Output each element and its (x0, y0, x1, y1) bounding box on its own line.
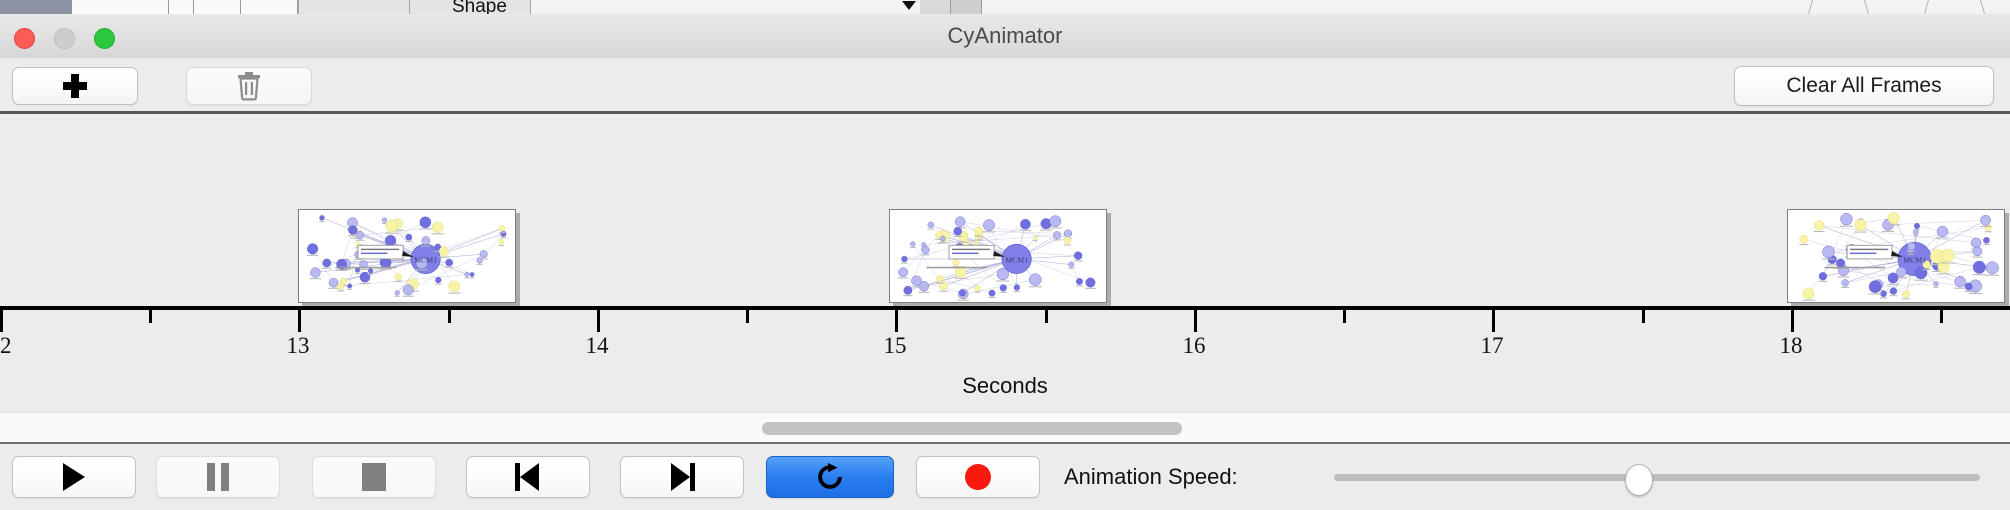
timeline-tick-major (0, 310, 3, 332)
timeline-frame-thumbnail[interactable]: MCM1 (298, 209, 516, 303)
delete-frame-button[interactable] (186, 67, 312, 105)
timeline-scrollbar[interactable] (0, 412, 2010, 444)
play-button[interactable] (12, 456, 136, 498)
background-window-divider (1864, 0, 1869, 14)
timeline-tick-minor (746, 310, 749, 323)
background-window-cell (920, 0, 951, 14)
loop-icon (815, 462, 845, 492)
timeline-tick-label: 13 (268, 333, 328, 359)
plus-icon (62, 73, 88, 99)
loop-button[interactable] (766, 456, 894, 498)
page-title: CyAnimator (0, 14, 2010, 58)
timeline-tick-minor (1940, 310, 1943, 323)
timeline-tick-minor (448, 310, 451, 323)
stop-button[interactable] (312, 456, 436, 498)
timeline-tick-major (1492, 310, 1495, 332)
timeline-frame-thumbnail[interactable]: MCM1 (889, 209, 1107, 303)
timeline-tick-label: 18 (1761, 333, 1821, 359)
record-icon (965, 464, 991, 490)
timeline-tick-label: 12 (0, 333, 30, 359)
trash-icon (236, 71, 262, 101)
background-window-dark-cell (0, 0, 72, 14)
pause-button[interactable] (156, 456, 280, 498)
timeline-tick-major (895, 310, 898, 332)
stop-icon (362, 463, 386, 491)
network-graph-preview: MCM1 (1788, 210, 2004, 302)
maximize-button[interactable] (94, 28, 115, 49)
previous-frame-button[interactable] (466, 456, 590, 498)
timeline-tick-label: 15 (865, 333, 925, 359)
background-window-divider (1980, 0, 1985, 14)
timeline-frame-thumbnail[interactable]: MCM1 (1787, 209, 2005, 303)
timeline-tick-minor (1045, 310, 1048, 323)
svg-text:MCM1: MCM1 (414, 255, 437, 264)
timeline-tick-major (298, 310, 301, 332)
close-button[interactable] (14, 28, 35, 49)
background-window-cell (951, 0, 982, 14)
skip-forward-icon (669, 463, 695, 491)
background-window-tab (298, 0, 410, 14)
next-frame-button[interactable] (620, 456, 744, 498)
timeline-tick-major (1194, 310, 1197, 332)
background-window-cell (194, 0, 241, 14)
svg-text:MCM1: MCM1 (1903, 255, 1926, 264)
animation-speed-slider-track (1334, 474, 1980, 481)
toolbar: Clear All Frames (0, 58, 2010, 112)
pause-icon (207, 463, 229, 491)
animation-speed-slider[interactable] (1334, 456, 1980, 498)
timeline-tick-major (1791, 310, 1794, 332)
timeline-tick-label: 14 (567, 333, 627, 359)
timeline-axis-line (0, 306, 2010, 310)
timeline-tick-label: 17 (1462, 333, 1522, 359)
animation-speed-slider-thumb[interactable] (1625, 464, 1653, 496)
axis-title: Seconds (0, 373, 2010, 399)
playback-controls: Animation Speed: (0, 444, 2010, 510)
cyanimator-window: Shape CyAnimator Clear All (0, 0, 2010, 510)
timeline-tick-minor (149, 310, 152, 323)
clear-all-frames-label: Clear All Frames (1786, 74, 1941, 98)
background-window-strip: Shape (0, 0, 2010, 15)
record-button[interactable] (916, 456, 1040, 498)
timeline-panel[interactable]: MCM1MCM1MCM1 12131415161718 Seconds (0, 114, 2010, 412)
background-window-label: Shape (452, 0, 507, 15)
network-graph-preview: MCM1 (890, 210, 1106, 302)
background-window-cell (72, 0, 169, 14)
timeline-tick-label: 16 (1164, 333, 1224, 359)
timeline-tick-minor (1642, 310, 1645, 323)
minimize-button[interactable] (54, 28, 75, 49)
timeline-tick-minor (1343, 310, 1346, 323)
timeline-scrollbar-thumb[interactable] (762, 422, 1182, 435)
background-window-divider (1808, 0, 1813, 14)
titlebar: CyAnimator (0, 14, 2010, 59)
network-graph-preview: MCM1 (299, 210, 515, 302)
skip-back-icon (515, 463, 541, 491)
background-window-cell (241, 0, 298, 14)
add-frame-button[interactable] (12, 67, 138, 105)
background-window-divider (1924, 0, 1929, 14)
clear-all-frames-button[interactable]: Clear All Frames (1734, 66, 1994, 106)
animation-speed-label: Animation Speed: (1064, 456, 1238, 498)
background-window-cell (169, 0, 194, 14)
play-icon (63, 463, 85, 491)
background-window-caret-icon (902, 1, 916, 10)
timeline-tick-major (597, 310, 600, 332)
svg-text:MCM1: MCM1 (1005, 255, 1028, 264)
